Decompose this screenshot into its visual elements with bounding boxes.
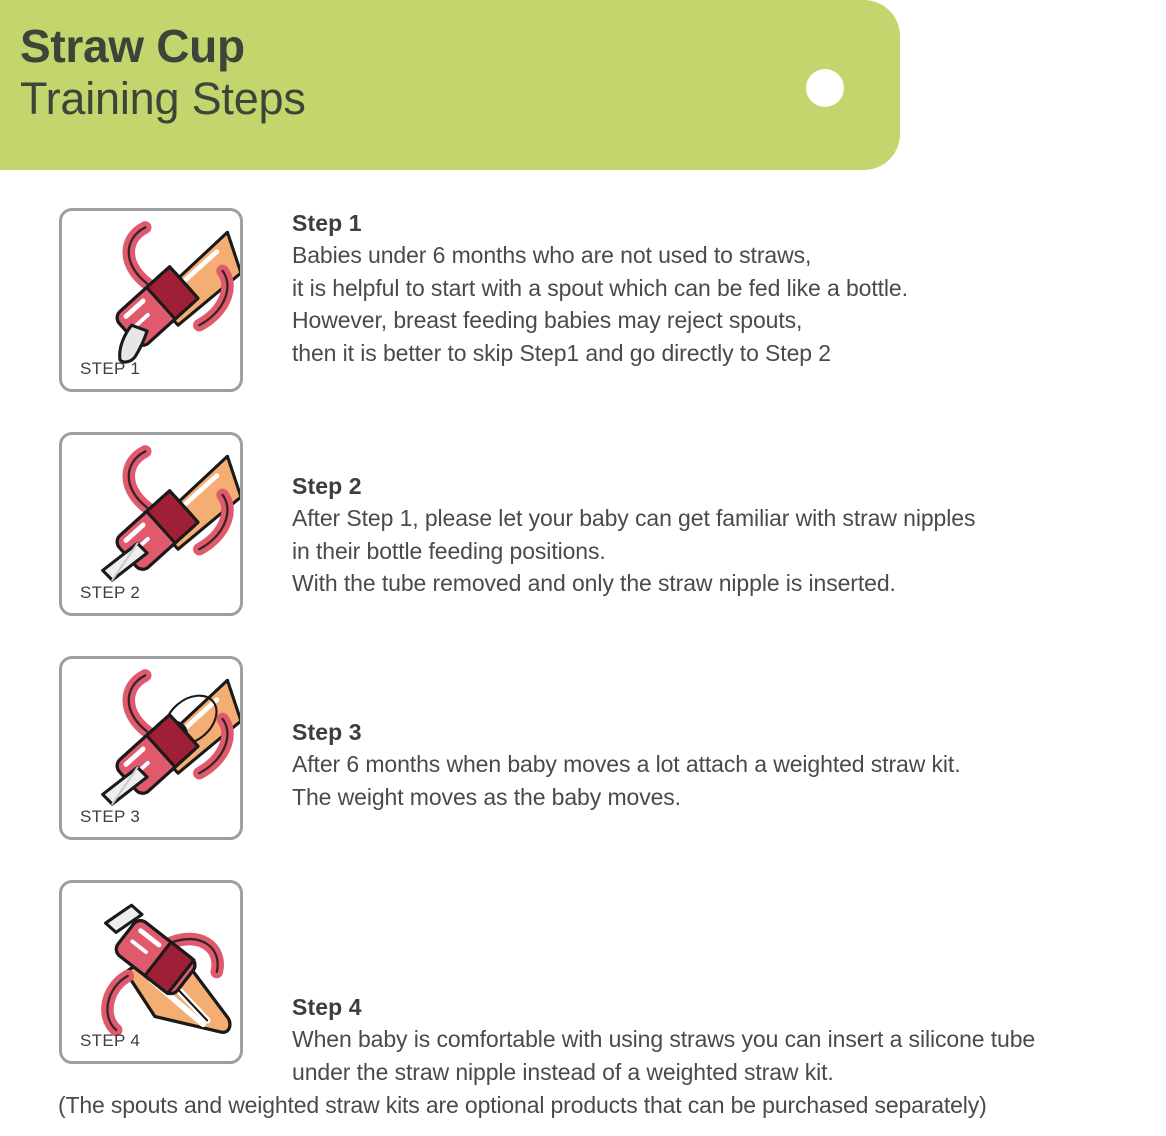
page-title-primary: Straw Cup	[20, 22, 640, 71]
tag-hole-icon	[806, 69, 844, 107]
footer-note: (The spouts and weighted straw kits are …	[58, 1092, 987, 1119]
step-row: STEP 4 Step 4 When baby is comfortable w…	[0, 842, 1166, 1066]
step-illustration-box: STEP 4	[59, 880, 243, 1064]
step-body-line: The weight moves as the baby moves.	[292, 781, 1166, 814]
header-tag: Straw Cup Training Steps	[0, 0, 900, 170]
page-title-secondary: Training Steps	[20, 75, 640, 124]
step-box-label: STEP 4	[80, 1032, 140, 1049]
step-body-line: under the straw nipple instead of a weig…	[292, 1056, 1166, 1089]
step-text-block: Step 3 After 6 months when baby moves a …	[292, 719, 1166, 813]
step-body-line: After 6 months when baby moves a lot att…	[292, 748, 1166, 781]
step-body: Babies under 6 months who are not used t…	[292, 239, 1166, 370]
step-heading: Step 2	[292, 473, 1166, 500]
step-illustration-box: STEP 1	[59, 208, 243, 392]
step-body: After 6 months when baby moves a lot att…	[292, 748, 1166, 813]
step-row: STEP 2 Step 2 After Step 1, please let y…	[0, 394, 1166, 618]
step-body-line: With the tube removed and only the straw…	[292, 567, 1166, 600]
step-illustration-box: STEP 2	[59, 432, 243, 616]
step-text-block: Step 4 When baby is comfortable with usi…	[292, 994, 1166, 1088]
step-body-line: After Step 1, please let your baby can g…	[292, 502, 1166, 535]
step-row: STEP 3 Step 3 After 6 months when baby m…	[0, 618, 1166, 842]
steps-list: STEP 1 Step 1 Babies under 6 months who …	[0, 170, 1166, 1066]
step-body-line: it is helpful to start with a spout whic…	[292, 272, 1166, 305]
step-row: STEP 1 Step 1 Babies under 6 months who …	[0, 170, 1166, 394]
step-body-line: then it is better to skip Step1 and go d…	[292, 337, 1166, 370]
step-body: When baby is comfortable with using stra…	[292, 1023, 1166, 1088]
step-body-line: However, breast feeding babies may rejec…	[292, 304, 1166, 337]
step-box-label: STEP 3	[80, 808, 140, 825]
step-body-line: in their bottle feeding positions.	[292, 535, 1166, 568]
step-heading: Step 1	[292, 210, 1166, 237]
step-text-block: Step 2 After Step 1, please let your bab…	[292, 473, 1166, 600]
step-illustration-box: STEP 3	[59, 656, 243, 840]
step-text-block: Step 1 Babies under 6 months who are not…	[292, 210, 1166, 370]
step-box-label: STEP 1	[80, 360, 140, 377]
step-body-line: Babies under 6 months who are not used t…	[292, 239, 1166, 272]
step-heading: Step 3	[292, 719, 1166, 746]
poster-root: Straw Cup Training Steps	[0, 0, 1166, 1136]
step-heading: Step 4	[292, 994, 1166, 1021]
step-box-label: STEP 2	[80, 584, 140, 601]
header-title-block: Straw Cup Training Steps	[20, 22, 640, 123]
step-body-line: When baby is comfortable with using stra…	[292, 1023, 1166, 1056]
step-body: After Step 1, please let your baby can g…	[292, 502, 1166, 600]
